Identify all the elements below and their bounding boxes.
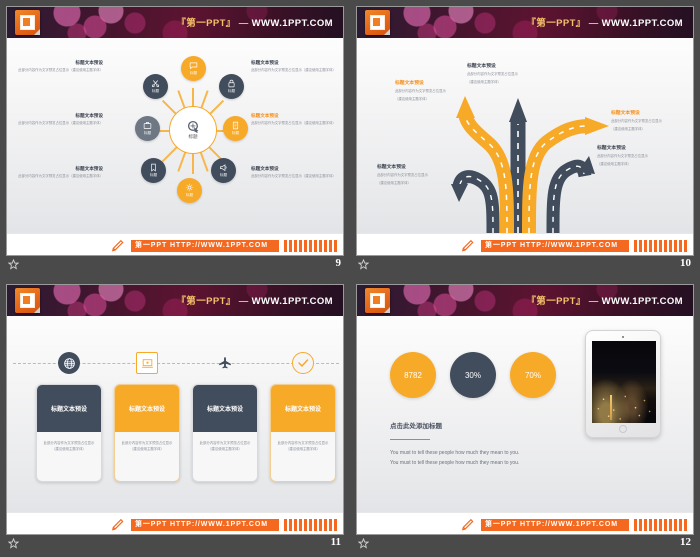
page-number: 9 bbox=[336, 257, 342, 269]
gear-icon bbox=[185, 183, 194, 192]
road-label-title: 标题文本预设 bbox=[377, 165, 461, 171]
text-block-left-2: 标题文本预设 此部分内容作为文字预览占位显示（建议使用主题字体） bbox=[17, 113, 103, 126]
timeline-card-3[interactable]: 标题文本预设 此部分内容作为文字预览占位显示（建议使用主题字体） bbox=[192, 384, 258, 482]
text-block-title: 标题文本预设 bbox=[17, 166, 103, 172]
footer-url-bar: 第一PPT HTTP://WWW.1PPT.COM bbox=[131, 519, 279, 531]
header-brand-cn: 『第一PPT』 bbox=[176, 18, 235, 29]
hub-node-label: 标题 bbox=[220, 173, 227, 178]
slide-12-body: 8782 30% 70% 点击此处添加标题 You must to tell t… bbox=[357, 316, 693, 512]
header-branding: 『第一PPT』 — WWW.1PPT.COM bbox=[526, 293, 683, 307]
slide-cell-11[interactable]: 『第一PPT』 — WWW.1PPT.COM bbox=[0, 278, 350, 557]
header-brand-cn: 『第一PPT』 bbox=[526, 296, 585, 307]
text-block-right-3: 标题文本预设 此部分内容作为文字预览占位显示（建议使用主题字体） bbox=[251, 166, 337, 179]
header-branding: 『第一PPT』 — WWW.1PPT.COM bbox=[176, 293, 333, 307]
timeline-card-title: 标题文本预设 bbox=[129, 404, 165, 413]
hub-node-8[interactable]: 标题 bbox=[143, 74, 168, 99]
slide-footer: 第一PPT HTTP://WWW.1PPT.COM bbox=[357, 233, 693, 256]
pencil-icon bbox=[460, 239, 476, 253]
timeline-card-1[interactable]: 标题文本预设 此部分内容作为文字预览占位显示（建议使用主题字体） bbox=[36, 384, 102, 482]
slide-10-caption: 10 bbox=[350, 257, 700, 275]
powerpoint-file-icon bbox=[365, 10, 390, 35]
road-label-body: 此部分内容作为文字预览占位显示 bbox=[395, 89, 479, 94]
road-label-right-lower: 标题文本预设 此部分内容作为文字预览占位显示 （建议使用主题字体） bbox=[597, 146, 681, 166]
text-block-title: 标题文本预设 bbox=[251, 113, 337, 119]
text-block-body: 此部分内容作为文字预览占位显示（建议使用主题字体） bbox=[251, 121, 337, 126]
hub-node-6[interactable]: 标题 bbox=[141, 158, 166, 183]
timeline-card-body: 此部分内容作为文字预览占位显示（建议使用主题字体） bbox=[193, 432, 257, 453]
paragraph-line-2: You must to tell these people how much t… bbox=[390, 459, 560, 469]
page-number: 10 bbox=[680, 257, 691, 269]
stat-value: 70% bbox=[525, 371, 541, 380]
slide-footer: 第一PPT HTTP://WWW.1PPT.COM bbox=[7, 512, 343, 535]
road-label-body: 此部分内容作为文字预览占位显示 bbox=[377, 173, 461, 178]
hub-center-label: 标题 bbox=[188, 134, 197, 140]
header-branding: 『第一PPT』 — WWW.1PPT.COM bbox=[526, 15, 683, 29]
hub-node-label: 标题 bbox=[232, 131, 239, 136]
briefcase-icon bbox=[143, 121, 152, 130]
timeline-card-body: 此部分内容作为文字预览占位显示（建议使用主题字体） bbox=[37, 432, 101, 453]
slide-12-paragraph: You must to tell these people how much t… bbox=[390, 449, 560, 468]
slide-header: 『第一PPT』 — WWW.1PPT.COM bbox=[7, 7, 343, 38]
timeline-card-title: 标题文本预设 bbox=[207, 404, 243, 413]
footer-url-bar: 第一PPT HTTP://WWW.1PPT.COM bbox=[481, 240, 629, 252]
hub-node-5[interactable]: 标题 bbox=[177, 178, 202, 203]
header-brand-cn: 『第一PPT』 bbox=[526, 18, 585, 29]
slide-11-caption: 11 bbox=[0, 536, 350, 554]
radial-hub-diagram: 标题 标题 标题 bbox=[139, 54, 247, 214]
hub-node-7[interactable]: 标题 bbox=[135, 116, 160, 141]
text-block-left-3: 标题文本预设 此部分内容作为文字预览占位显示（建议使用主题字体） bbox=[17, 166, 103, 179]
hub-center[interactable]: 标题 bbox=[169, 106, 217, 154]
footer-stripes bbox=[284, 240, 339, 252]
road-label-note: （建议使用主题字体） bbox=[395, 96, 479, 101]
stat-value: 8782 bbox=[404, 371, 422, 380]
road-label-title: 标题文本预设 bbox=[611, 111, 694, 117]
slide-10[interactable]: 『第一PPT』 — WWW.1PPT.COM bbox=[356, 6, 694, 256]
tablet-camera bbox=[622, 336, 624, 338]
stat-circle-1[interactable]: 8782 bbox=[390, 352, 436, 398]
hub-node-label: 标题 bbox=[190, 71, 197, 76]
timeline-icon-globe[interactable] bbox=[58, 352, 80, 374]
slide-header: 『第一PPT』 — WWW.1PPT.COM bbox=[357, 7, 693, 38]
text-block-title: 标题文本预设 bbox=[251, 60, 337, 66]
tablet-screen-night-cityscape bbox=[592, 341, 656, 423]
hub-node-2[interactable]: 标题 bbox=[219, 74, 244, 99]
hub-node-4[interactable]: 标题 bbox=[211, 158, 236, 183]
slide-footer: 第一PPT HTTP://WWW.1PPT.COM bbox=[357, 512, 693, 535]
slide-12[interactable]: 『第一PPT』 — WWW.1PPT.COM 8782 30% 70% 点击此处… bbox=[356, 284, 694, 535]
timeline-card-title: 标题文本预设 bbox=[51, 404, 87, 413]
header-brand-url: WWW.1PPT.COM bbox=[602, 18, 683, 29]
laptop-icon bbox=[141, 358, 154, 369]
timeline-icon-airplane[interactable] bbox=[214, 352, 236, 374]
timeline-card-header: 标题文本预设 bbox=[271, 385, 335, 432]
stat-value: 30% bbox=[465, 371, 481, 380]
header-dash: — bbox=[239, 296, 249, 307]
slide-9-body: 标题文本预设 此部分内容作为文字预览占位显示（建议使用主题字体） 标题文本预设 … bbox=[7, 38, 343, 233]
slide-11-body: 标题文本预设 此部分内容作为文字预览占位显示（建议使用主题字体） 标题文本预设 … bbox=[7, 316, 343, 512]
pencil-icon bbox=[460, 518, 476, 532]
road-left-orange bbox=[456, 96, 507, 233]
hub-node-label: 标题 bbox=[150, 173, 157, 178]
text-block-left-1: 标题文本预设 此部分内容作为文字预览占位显示（建议使用主题字体） bbox=[17, 60, 103, 73]
timeline-card-body: 此部分内容作为文字预览占位显示（建议使用主题字体） bbox=[115, 432, 179, 453]
slide-9[interactable]: 『第一PPT』 — WWW.1PPT.COM 标题文本预设 此部分内容作为文字预… bbox=[6, 6, 344, 256]
text-block-right-1: 标题文本预设 此部分内容作为文字预览占位显示（建议使用主题字体） bbox=[251, 60, 337, 73]
road-label-note: （建议使用主题字体） bbox=[377, 180, 461, 185]
star-outline-icon[interactable] bbox=[8, 259, 19, 270]
powerpoint-file-icon bbox=[15, 10, 40, 35]
timeline-icon-check[interactable] bbox=[292, 352, 314, 374]
road-label-note: （建议使用主题字体） bbox=[467, 79, 551, 84]
road-label-upper-left: 标题文本预设 此部分内容作为文字预览占位显示 （建议使用主题字体） bbox=[395, 81, 479, 101]
text-block-title: 标题文本预设 bbox=[17, 60, 103, 66]
paragraph-line-1: You must to tell these people how much t… bbox=[390, 449, 560, 459]
timeline-card-2[interactable]: 标题文本预设 此部分内容作为文字预览占位显示（建议使用主题字体） bbox=[114, 384, 180, 482]
slide-10-body: 标题文本预设 此部分内容作为文字预览占位显示 （建议使用主题字体） 标题文本预设… bbox=[357, 38, 693, 233]
slide-footer: 第一PPT HTTP://WWW.1PPT.COM bbox=[7, 233, 343, 256]
footer-url-bar: 第一PPT HTTP://WWW.1PPT.COM bbox=[131, 240, 279, 252]
timeline-card-4[interactable]: 标题文本预设 此部分内容作为文字预览占位显示（建议使用主题字体） bbox=[270, 384, 336, 482]
text-block-right-2: 标题文本预设 此部分内容作为文字预览占位显示（建议使用主题字体） bbox=[251, 113, 337, 126]
road-label-bottom-left: 标题文本预设 此部分内容作为文字预览占位显示 （建议使用主题字体） bbox=[377, 165, 461, 185]
pencil-icon bbox=[110, 518, 126, 532]
timeline-card-header: 标题文本预设 bbox=[115, 385, 179, 432]
page-number: 12 bbox=[680, 536, 691, 548]
lock-icon bbox=[227, 79, 236, 88]
stat-circle-2[interactable]: 30% bbox=[450, 352, 496, 398]
slide-header: 『第一PPT』 — WWW.1PPT.COM bbox=[357, 285, 693, 316]
hub-node-label: 标题 bbox=[228, 89, 235, 94]
airplane-icon bbox=[217, 356, 233, 370]
footer-stripes bbox=[634, 519, 689, 531]
stat-circle-3[interactable]: 70% bbox=[510, 352, 556, 398]
star-outline-icon[interactable] bbox=[358, 259, 369, 270]
timeline-card-title: 标题文本预设 bbox=[285, 404, 321, 413]
powerpoint-file-icon bbox=[15, 288, 40, 313]
header-branding: 『第一PPT』 — WWW.1PPT.COM bbox=[176, 15, 333, 29]
hub-node-3[interactable]: 标题 bbox=[223, 116, 248, 141]
text-block-body: 此部分内容作为文字预览占位显示（建议使用主题字体） bbox=[251, 68, 337, 73]
hub-node-label: 标题 bbox=[152, 89, 159, 94]
road-label-note: （建议使用主题字体） bbox=[611, 126, 694, 131]
tablet-device-mockup bbox=[585, 330, 661, 438]
cursor-click-icon bbox=[187, 120, 200, 133]
slide-thumbnail-grid: 『第一PPT』 — WWW.1PPT.COM 标题文本预设 此部分内容作为文字预… bbox=[0, 0, 700, 557]
text-block-title: 标题文本预设 bbox=[251, 166, 337, 172]
road-label-top-center: 标题文本预设 此部分内容作为文字预览占位显示 （建议使用主题字体） bbox=[467, 64, 551, 84]
text-block-body: 此部分内容作为文字预览占位显示（建议使用主题字体） bbox=[17, 68, 103, 73]
slide-cell-10[interactable]: 『第一PPT』 — WWW.1PPT.COM bbox=[350, 0, 700, 278]
pencil-icon bbox=[110, 239, 126, 253]
scissors-icon bbox=[151, 79, 160, 88]
bookmark-icon bbox=[149, 163, 158, 172]
timeline-card-body: 此部分内容作为文字预览占位显示（建议使用主题字体） bbox=[271, 432, 335, 453]
header-brand-url: WWW.1PPT.COM bbox=[252, 296, 333, 307]
star-outline-icon[interactable] bbox=[8, 538, 19, 549]
timeline-icon-laptop[interactable] bbox=[136, 352, 158, 374]
powerpoint-file-icon bbox=[365, 288, 390, 313]
timeline-card-header: 标题文本预设 bbox=[37, 385, 101, 432]
road-label-note: （建议使用主题字体） bbox=[597, 161, 681, 166]
slide-9-caption: 9 bbox=[0, 257, 350, 275]
heading-divider bbox=[390, 439, 430, 440]
footer-stripes bbox=[634, 240, 689, 252]
header-brand-cn: 『第一PPT』 bbox=[176, 296, 235, 307]
road-lower-right-dark bbox=[553, 156, 595, 233]
header-dash: — bbox=[589, 296, 599, 307]
slide-12-heading: 点击此处添加标题 bbox=[390, 420, 442, 430]
slide-11[interactable]: 『第一PPT』 — WWW.1PPT.COM bbox=[6, 284, 344, 535]
page-number: 11 bbox=[331, 536, 341, 548]
road-label-right-upper: 标题文本预设 此部分内容作为文字预览占位显示 （建议使用主题字体） bbox=[611, 111, 694, 131]
header-brand-url: WWW.1PPT.COM bbox=[602, 296, 683, 307]
slide-cell-9[interactable]: 『第一PPT』 — WWW.1PPT.COM 标题文本预设 此部分内容作为文字预… bbox=[0, 0, 350, 278]
hub-node-1[interactable]: 标题 bbox=[181, 56, 206, 81]
text-block-body: 此部分内容作为文字预览占位显示（建议使用主题字体） bbox=[251, 174, 337, 179]
header-dash: — bbox=[239, 18, 249, 29]
slide-12-caption: 12 bbox=[350, 536, 700, 554]
timeline-card-header: 标题文本预设 bbox=[193, 385, 257, 432]
footer-stripes bbox=[284, 519, 339, 531]
hub-node-label: 标题 bbox=[144, 131, 151, 136]
chat-bubble-icon bbox=[189, 61, 198, 70]
text-block-body: 此部分内容作为文字预览占位显示（建议使用主题字体） bbox=[17, 121, 103, 126]
slide-cell-12[interactable]: 『第一PPT』 — WWW.1PPT.COM 8782 30% 70% 点击此处… bbox=[350, 278, 700, 557]
footer-url-bar: 第一PPT HTTP://WWW.1PPT.COM bbox=[481, 519, 629, 531]
hub-node-label: 标题 bbox=[186, 193, 193, 198]
check-icon bbox=[297, 357, 309, 369]
road-label-title: 标题文本预设 bbox=[467, 64, 551, 70]
tablet-home-button bbox=[619, 425, 627, 433]
slide-header: 『第一PPT』 — WWW.1PPT.COM bbox=[7, 285, 343, 316]
header-dash: — bbox=[589, 18, 599, 29]
document-icon bbox=[231, 121, 240, 130]
road-label-body: 此部分内容作为文字预览占位显示 bbox=[597, 154, 681, 159]
globe-icon bbox=[63, 357, 76, 370]
road-lower-left-dark bbox=[451, 177, 493, 233]
header-brand-url: WWW.1PPT.COM bbox=[252, 18, 333, 29]
road-label-body: 此部分内容作为文字预览占位显示 bbox=[611, 119, 694, 124]
star-outline-icon[interactable] bbox=[358, 538, 369, 549]
text-block-body: 此部分内容作为文字预览占位显示（建议使用主题字体） bbox=[17, 174, 103, 179]
road-label-title: 标题文本预设 bbox=[597, 146, 681, 152]
text-block-title: 标题文本预设 bbox=[17, 113, 103, 119]
megaphone-icon bbox=[219, 163, 228, 172]
road-label-body: 此部分内容作为文字预览占位显示 bbox=[467, 72, 551, 77]
